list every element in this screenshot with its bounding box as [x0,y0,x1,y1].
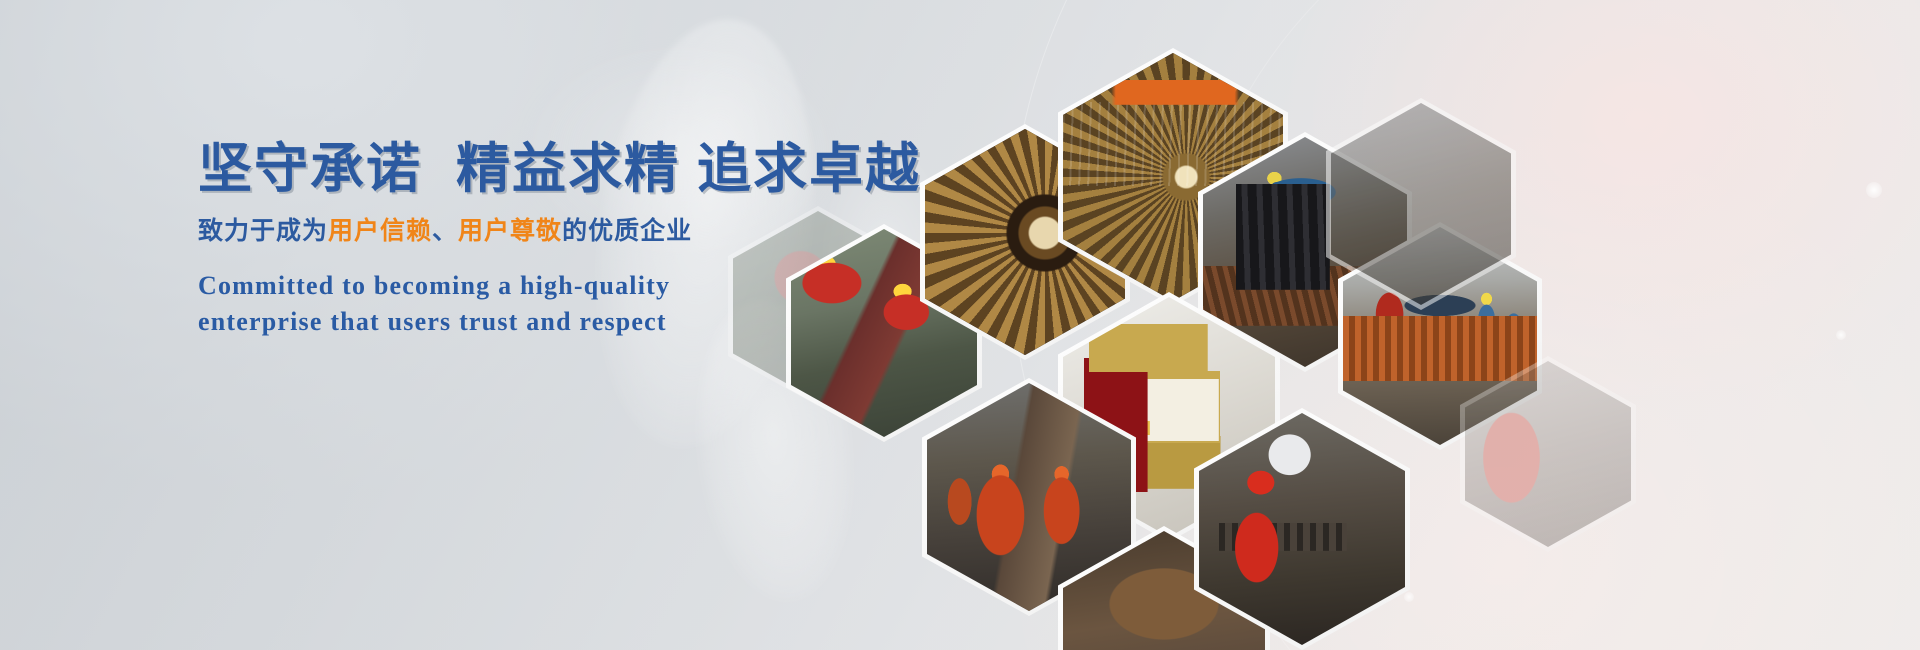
hexagon-photo-collage [770,56,1910,576]
light-spark [1404,592,1414,602]
promotional-banner: 坚守承诺 精益求精 追求卓越 致力于成为用户信赖、用户尊敬的优质企业 Commi… [0,0,1920,650]
subtitle-highlight-trust: 用户信赖 [328,217,432,245]
subtitle-separator: 、 [432,217,458,245]
subtitle-lead: 致力于成为 [198,217,328,245]
subtitle-tail: 的优质企业 [562,217,692,245]
subtitle-highlight-respect: 用户尊敬 [458,217,562,245]
